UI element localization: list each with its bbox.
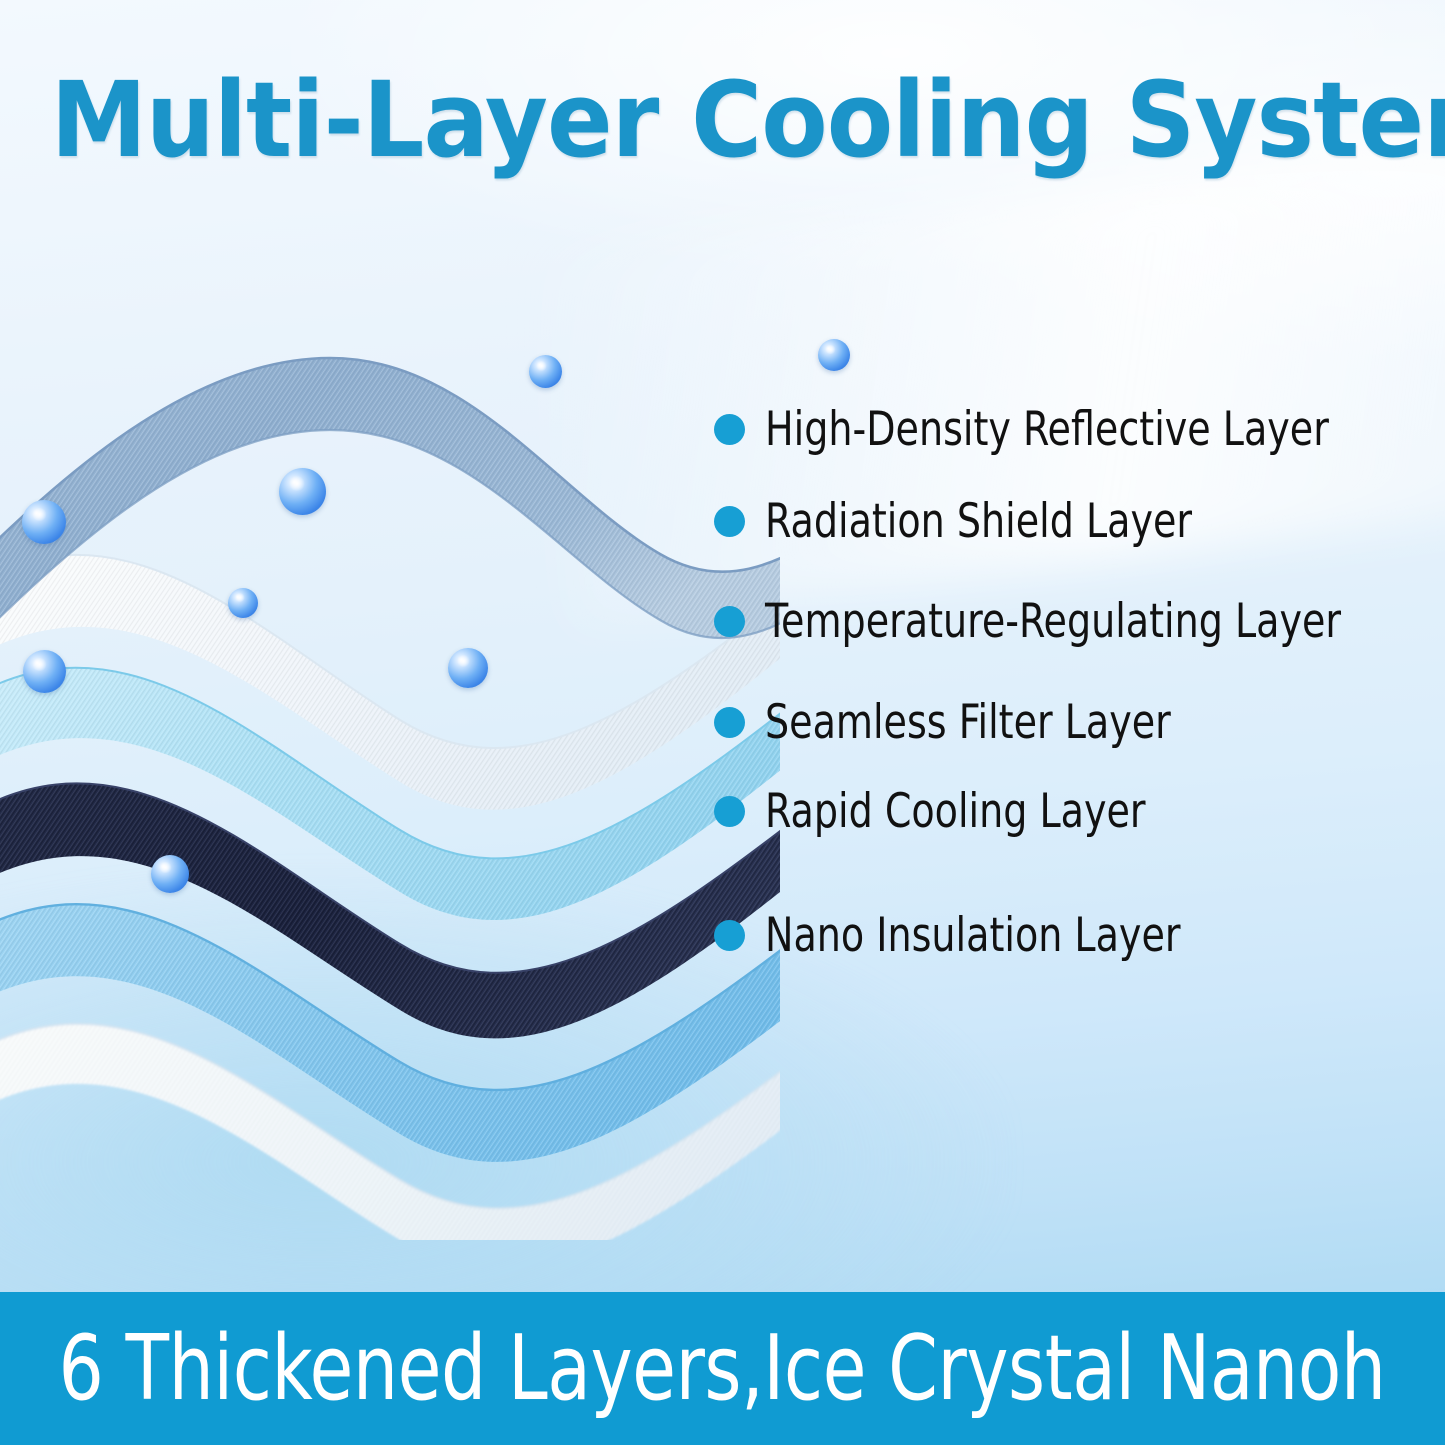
bullet-dot-icon: [714, 920, 745, 951]
water-droplet: [23, 650, 66, 693]
feature-item-high-density-reflective[interactable]: High-Density Reflective Layer: [714, 406, 1392, 453]
product-infographic-poster: Multi-Layer Cooling System: [0, 0, 1445, 1445]
water-droplet: [228, 588, 258, 618]
bullet-dot-icon: [714, 707, 745, 738]
bottom-banner: 6 Thickened Layers,Ice Crystal Nanoh: [0, 1292, 1445, 1445]
feature-label: Seamless Filter Layer: [765, 699, 1171, 746]
fabric-layer-illustration: [0, 300, 780, 1240]
feature-item-rapid-cooling[interactable]: Rapid Cooling Layer: [714, 788, 1188, 835]
water-droplet: [151, 855, 189, 893]
feature-label: High-Density Reflective Layer: [765, 406, 1329, 453]
water-droplet: [818, 339, 850, 371]
feature-item-nano-insulation[interactable]: Nano Insulation Layer: [714, 912, 1227, 959]
banner-text: 6 Thickened Layers,Ice Crystal Nanoh: [59, 1324, 1386, 1414]
water-droplet: [448, 648, 488, 688]
feature-label: Rapid Cooling Layer: [765, 788, 1146, 835]
feature-item-temperature-regulating[interactable]: Temperature-Regulating Layer: [714, 598, 1405, 645]
water-droplet: [529, 355, 562, 388]
bullet-dot-icon: [714, 606, 745, 637]
page-title: Multi-Layer Cooling System: [51, 68, 1395, 172]
water-droplet: [279, 468, 326, 515]
feature-item-seamless-filter[interactable]: Seamless Filter Layer: [714, 699, 1216, 746]
bullet-dot-icon: [714, 796, 745, 827]
water-droplet: [22, 500, 66, 544]
feature-item-radiation-shield[interactable]: Radiation Shield Layer: [714, 498, 1240, 545]
feature-label: Radiation Shield Layer: [765, 498, 1192, 545]
feature-label: Nano Insulation Layer: [765, 912, 1181, 959]
feature-label: Temperature-Regulating Layer: [765, 598, 1341, 645]
bullet-dot-icon: [714, 414, 745, 445]
bullet-dot-icon: [714, 506, 745, 537]
